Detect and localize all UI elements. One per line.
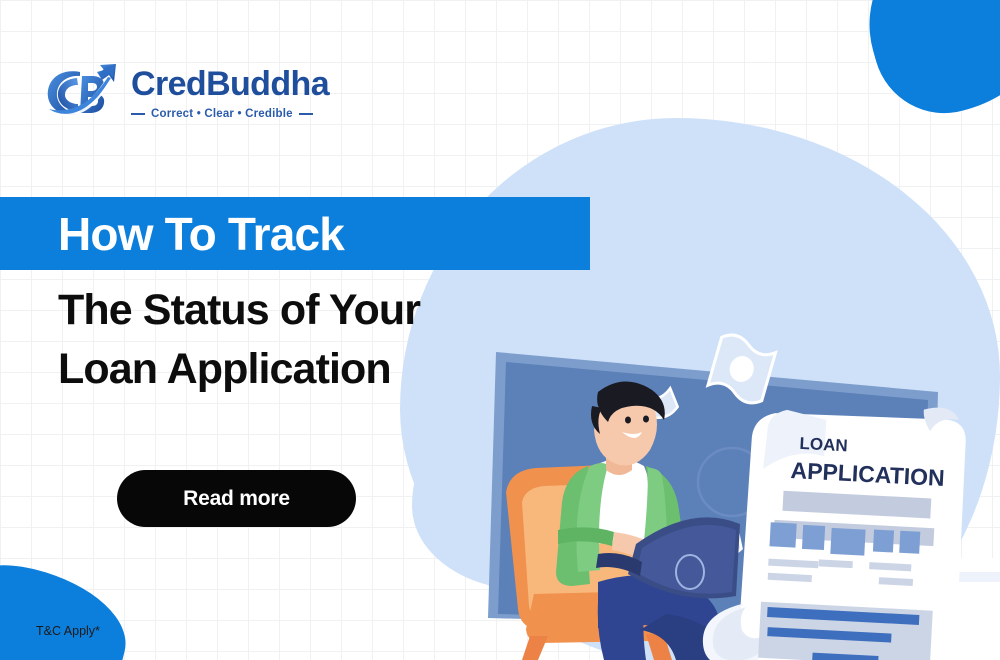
read-more-label: Read more	[183, 487, 290, 511]
loan-application-illustration: LOAN APPLICATION	[470, 300, 1000, 660]
brand-tagline: Correct • Clear • Credible	[151, 108, 293, 120]
logo-text: CredBuddha Correct • Clear • Credible	[131, 67, 329, 120]
tagline-rule-right	[299, 113, 313, 115]
headline-highlight-band: How To Track	[0, 197, 590, 270]
read-more-button[interactable]: Read more	[117, 470, 356, 527]
credbuddha-cb-arrow-logo-icon	[44, 62, 122, 124]
headline-line-1: How To Track	[0, 211, 344, 257]
promo-banner: CredBuddha Correct • Clear • Credible Ho…	[0, 0, 1000, 660]
brand-logo[interactable]: CredBuddha Correct • Clear • Credible	[44, 62, 329, 124]
brand-name: CredBuddha	[131, 67, 329, 101]
headline-subtext: The Status of Your Loan Application	[58, 281, 420, 400]
brand-tagline-row: Correct • Clear • Credible	[131, 108, 329, 120]
headline-line-2: The Status of Your	[58, 281, 420, 340]
tagline-rule-left	[131, 113, 145, 115]
terms-conditions-note: T&C Apply*	[36, 624, 100, 638]
headline-line-3: Loan Application	[58, 340, 420, 399]
doc-title-line-1: LOAN	[799, 434, 848, 455]
